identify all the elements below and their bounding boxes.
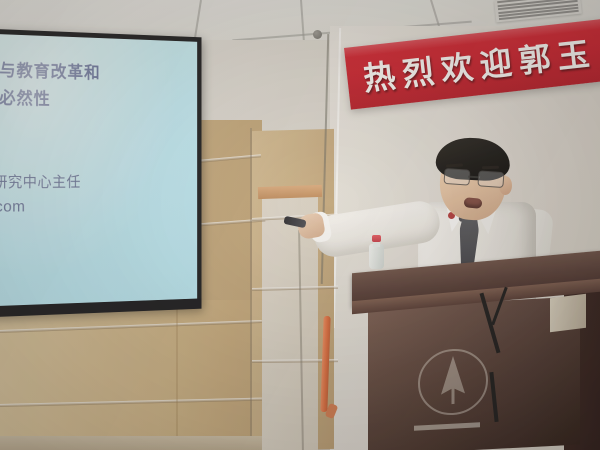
slide-speaker-title: 院全球教育研究中心主任 [0,171,81,192]
water-bottle [368,235,385,269]
university-crest-icon [410,344,496,425]
notes-on-podium [550,294,586,332]
speaker-mouth [464,197,483,209]
glasses-icon [444,168,505,187]
speaker-eyebrow [482,166,499,170]
slide-content: 国企业界参与教育改革和 要性与历史必然性 郭玉贵 院全球教育研究中心主任 guo… [0,33,197,308]
slide-email: guo@msn.com [0,199,25,218]
wall-corner-edge [250,128,252,450]
slide-line-1: 国企业界参与教育改革和 [0,53,101,83]
projection-screen: 国企业界参与教育改革和 要性与历史必然性 郭玉贵 院全球教育研究中心主任 guo… [0,28,201,318]
slide-line-2: 要性与历史必然性 [0,82,51,110]
bottle-cap [372,235,381,242]
projection-screen-surface: 国企业界参与教育改革和 要性与历史必然性 郭玉贵 院全球教育研究中心主任 guo… [0,33,197,308]
lecture-hall-photo: 国企业界参与教育改革和 要性与历史必然性 郭玉贵 院全球教育研究中心主任 guo… [0,0,600,450]
ceiling-sensor-icon [313,30,322,39]
bottle-body [369,244,384,269]
podium [352,246,600,450]
floor [0,436,262,450]
